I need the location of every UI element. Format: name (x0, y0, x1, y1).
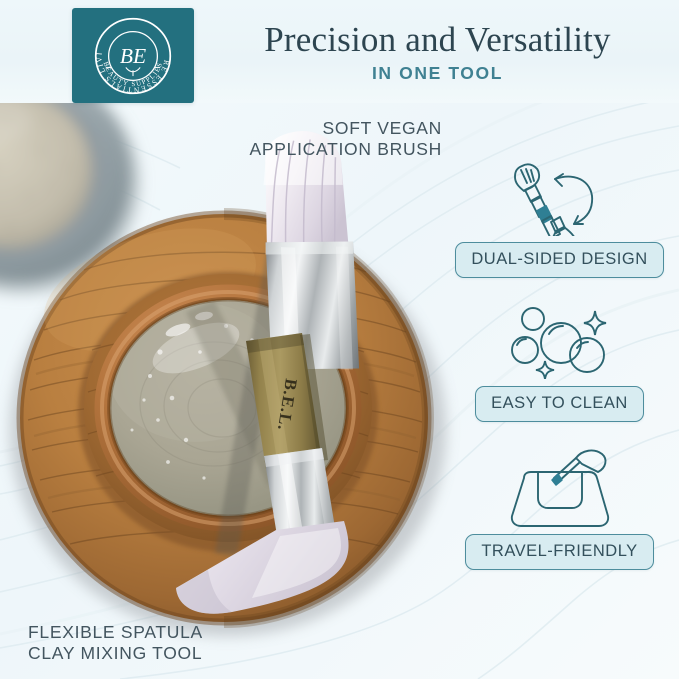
feature-travel-friendly: TRAVEL-FRIENDLY (440, 450, 679, 570)
dual-ended-brush-spatula-flip-icon (494, 158, 626, 236)
page-title: Precision and Versatility (264, 20, 611, 60)
callout-brush-line1: SOFT VEGAN (180, 118, 442, 139)
callout-brush: SOFT VEGAN APPLICATION BRUSH (180, 118, 442, 160)
page-subtitle: IN ONE TOOL (372, 63, 503, 84)
callout-spatula-line1: FLEXIBLE SPATULA (28, 622, 328, 643)
header-title-group: Precision and Versatility IN ONE TOOL (196, 0, 679, 103)
feature-list: DUAL-SIDED DESIGN (440, 150, 679, 620)
brand-logo[interactable]: BARE ESSENTIALS LIVING BEAUTY SUPPLIES B… (72, 8, 194, 103)
callout-brush-line2: APPLICATION BRUSH (180, 139, 442, 160)
badge-dual-sided-design[interactable]: DUAL-SIDED DESIGN (455, 242, 663, 278)
brand-logo-mark: BARE ESSENTIALS LIVING BEAUTY SUPPLIES B… (90, 13, 176, 99)
badge-travel-friendly[interactable]: TRAVEL-FRIENDLY (465, 534, 653, 570)
feature-dual-sided-design: DUAL-SIDED DESIGN (440, 158, 679, 278)
callout-spatula-line2: CLAY MIXING TOOL (28, 643, 328, 664)
logo-monogram: BE (120, 44, 146, 68)
travel-pouch-brush-icon (496, 450, 624, 528)
infographic-canvas: B.E.L. Precision and Versatility IN ONE … (0, 0, 679, 679)
bubbles-sparkle-icon (499, 302, 621, 380)
callout-spatula: FLEXIBLE SPATULA CLAY MIXING TOOL (28, 622, 328, 664)
badge-easy-to-clean[interactable]: EASY TO CLEAN (475, 386, 644, 422)
feature-easy-to-clean: EASY TO CLEAN (440, 302, 679, 422)
